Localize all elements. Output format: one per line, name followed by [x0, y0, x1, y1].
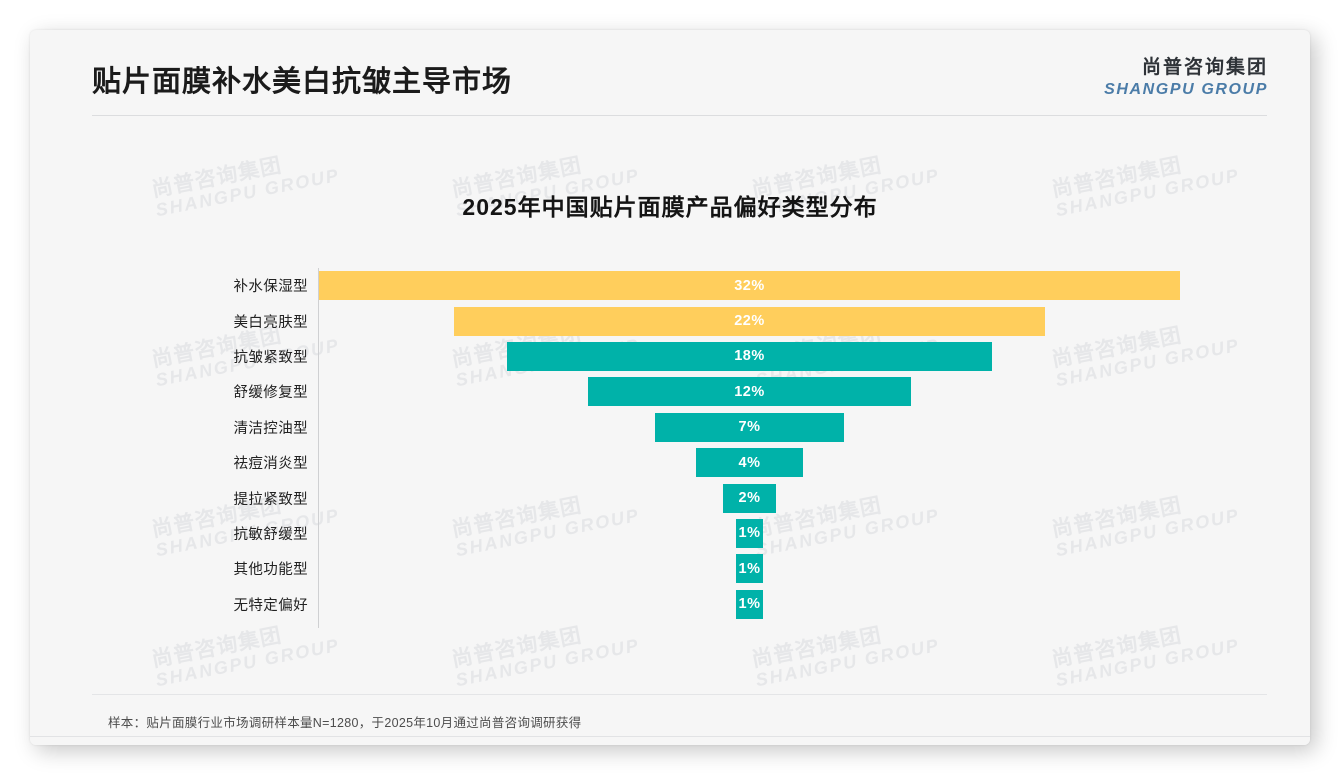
funnel-bar[interactable]: 1% [736, 519, 763, 548]
funnel-bar[interactable]: 2% [723, 484, 777, 513]
category-label: 补水保湿型 [180, 275, 308, 296]
funnel-row: 补水保湿型32% [180, 268, 1180, 303]
bar-track: 4% [319, 445, 1180, 480]
funnel-bar[interactable]: 4% [696, 448, 804, 477]
funnel-bar[interactable]: 7% [655, 413, 843, 442]
funnel-row: 美白亮肤型22% [180, 303, 1180, 338]
bar-value-label: 12% [734, 384, 765, 400]
funnel-row: 祛痘消炎型4% [180, 445, 1180, 480]
bar-track: 1% [319, 587, 1180, 622]
bar-track: 7% [319, 410, 1180, 445]
page-title: 贴片面膜补水美白抗皱主导市场 [92, 58, 512, 100]
footnote-text: 样本：贴片面膜行业市场调研样本量N=1280，于2025年10月通过尚普咨询调研… [108, 712, 581, 731]
funnel-bar[interactable]: 18% [507, 342, 991, 371]
funnel-bar[interactable]: 1% [736, 590, 763, 619]
funnel-row: 无特定偏好1% [180, 587, 1180, 622]
slide-header: 贴片面膜补水美白抗皱主导市场 尚普咨询集团 SHANGPU GROUP [30, 30, 1310, 118]
funnel-row: 舒缓修复型12% [180, 374, 1180, 409]
bar-track: 1% [319, 551, 1180, 586]
bar-value-label: 18% [734, 348, 765, 364]
funnel-row: 其他功能型1% [180, 551, 1180, 586]
category-label: 提拉紧致型 [180, 488, 308, 509]
bar-track: 32% [319, 268, 1180, 303]
funnel-row: 抗皱紧致型18% [180, 339, 1180, 374]
category-label: 祛痘消炎型 [180, 452, 308, 473]
funnel-row: 清洁控油型7% [180, 410, 1180, 445]
funnel-bar[interactable]: 12% [588, 377, 911, 406]
brand-logo: 尚普咨询集团 SHANGPU GROUP [1104, 56, 1268, 99]
bar-track: 22% [319, 303, 1180, 338]
category-label: 清洁控油型 [180, 417, 308, 438]
bar-value-label: 4% [739, 455, 761, 471]
funnel-bar[interactable]: 1% [736, 554, 763, 583]
category-label: 美白亮肤型 [180, 311, 308, 332]
category-label: 其他功能型 [180, 558, 308, 579]
bar-value-label: 1% [739, 561, 761, 577]
bar-track: 2% [319, 480, 1180, 515]
slide-footer: ©2025.12 SHANGPU GROUP www.shangpu-china… [30, 737, 1310, 745]
category-label: 抗敏舒缓型 [180, 523, 308, 544]
bar-value-label: 1% [739, 525, 761, 541]
brand-logo-en: SHANGPU GROUP [1104, 80, 1268, 99]
bar-track: 12% [319, 374, 1180, 409]
funnel-chart: 补水保湿型32%美白亮肤型22%抗皱紧致型18%舒缓修复型12%清洁控油型7%祛… [180, 268, 1180, 628]
footnote-divider [92, 694, 1267, 695]
funnel-bar[interactable]: 22% [454, 307, 1046, 336]
bar-value-label: 32% [734, 278, 765, 294]
bar-value-label: 22% [734, 313, 765, 329]
category-label: 舒缓修复型 [180, 381, 308, 402]
bar-value-label: 2% [739, 490, 761, 506]
bar-value-label: 1% [739, 596, 761, 612]
funnel-row: 提拉紧致型2% [180, 480, 1180, 515]
brand-logo-cn: 尚普咨询集团 [1104, 56, 1268, 80]
bar-value-label: 7% [739, 419, 761, 435]
bar-track: 1% [319, 516, 1180, 551]
category-label: 无特定偏好 [180, 594, 308, 615]
header-divider [92, 115, 1267, 116]
bar-track: 18% [319, 339, 1180, 374]
chart-title: 2025年中国贴片面膜产品偏好类型分布 [30, 188, 1310, 222]
funnel-row: 抗敏舒缓型1% [180, 516, 1180, 551]
slide-card: 尚普咨询集团SHANGPU GROUP尚普咨询集团SHANGPU GROUP尚普… [30, 30, 1310, 745]
category-label: 抗皱紧致型 [180, 346, 308, 367]
chart-region: 2025年中国贴片面膜产品偏好类型分布 补水保湿型32%美白亮肤型22%抗皱紧致… [30, 126, 1310, 656]
funnel-bar[interactable]: 32% [319, 271, 1180, 300]
